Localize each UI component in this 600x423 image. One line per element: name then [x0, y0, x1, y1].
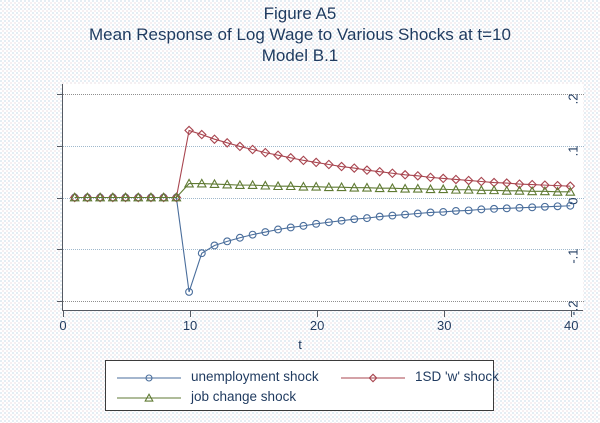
legend-item-1sd-w-shock[interactable]: 1SD 'w' shock	[341, 369, 499, 384]
legend-swatch-unemployment-shock	[117, 371, 181, 383]
legend-sample-graphic	[117, 392, 181, 404]
legend-item-job-change-shock[interactable]: job change shock	[117, 389, 296, 404]
legend-sample-graphic	[117, 372, 181, 384]
legend-label-job-change-shock: job change shock	[191, 389, 296, 404]
legend-label-1sd-w-shock: 1SD 'w' shock	[415, 369, 499, 384]
legend-sample-graphic	[341, 372, 405, 384]
x-axis-title: t	[0, 337, 600, 352]
series-unemployment-shock	[71, 194, 573, 295]
legend-swatch-job-change-shock	[117, 391, 181, 403]
legend-item-unemployment-shock[interactable]: unemployment shock	[117, 369, 319, 384]
figure-root: Figure A5 Mean Response of Log Wage to V…	[0, 0, 600, 423]
chart-legend: unemployment shock 1SD 'w' shock job cha…	[105, 360, 494, 411]
legend-label-unemployment-shock: unemployment shock	[191, 369, 319, 384]
legend-swatch-1sd-w-shock	[341, 371, 405, 383]
